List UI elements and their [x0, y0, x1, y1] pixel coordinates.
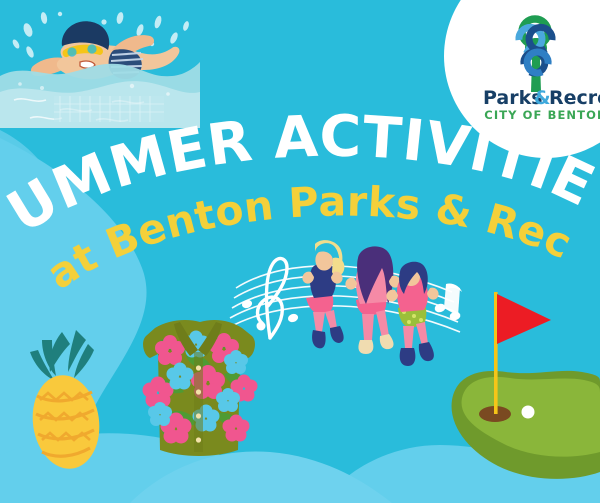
- logo-subtitle-city-of-benton: CITY OF BENTON: [484, 108, 600, 122]
- parks-recreation-logo[interactable]: Parks & Recreation CITY OF BENTON: [0, 0, 600, 503]
- poster-canvas: SUMMER ACTIVITIES at Benton Parks & Rec …: [0, 0, 600, 503]
- logo-title-recreation: Recreation: [549, 87, 600, 109]
- logo-wordmark: Parks & Recreation CITY OF BENTON: [483, 87, 600, 122]
